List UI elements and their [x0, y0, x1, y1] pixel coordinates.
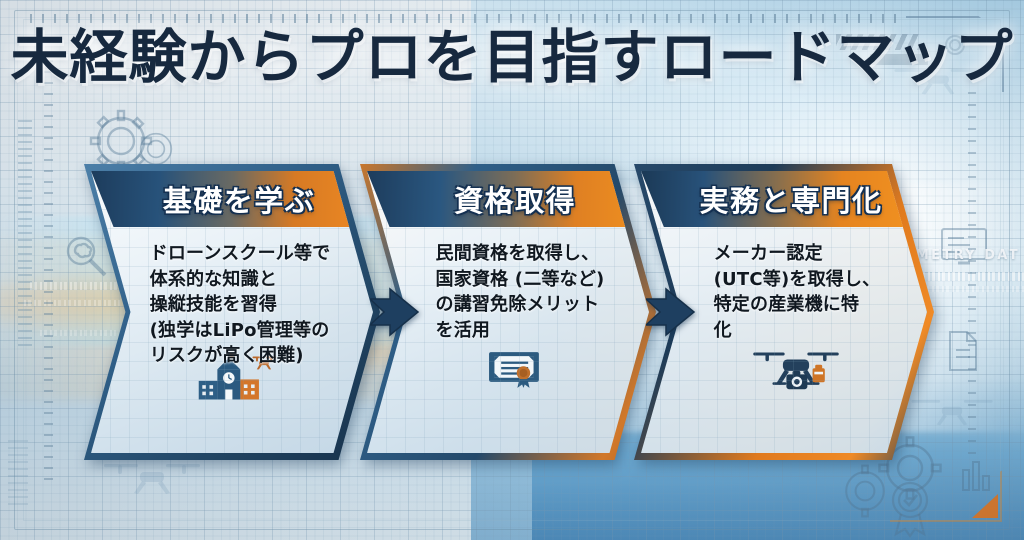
step-card-1[interactable]: 基礎を学ぶ ドローンスクール等で 体系的な知識と 操縦技能を習得 (独学はLiP…: [84, 164, 380, 460]
step-header-title-2: 資格取得: [367, 171, 649, 227]
arrow-step1-to-step2: [370, 286, 420, 338]
arrow-step2-to-step3: [646, 286, 696, 338]
step-header-band-2: 資格取得: [367, 171, 649, 227]
step-body-1: ドローンスクール等で 体系的な知識と 操縦技能を習得 (独学はLiPo管理等の …: [91, 227, 373, 453]
infographic-canvas: TELEMETRY DAT 未経験からプロを目指すロードマップ 基礎を学ぶ ドロ…: [0, 0, 1024, 540]
step-body-text-2: 民間資格を取得し、 国家資格 (二等など) の講習免除メリット を活用: [402, 241, 615, 343]
step-header-band-1: 基礎を学ぶ: [91, 171, 373, 227]
step-header-title-3: 実務と専門化: [641, 171, 927, 227]
step-body-text-1: ドローンスクール等で 体系的な知識と 操縦技能を習得 (独学はLiPo管理等の …: [124, 241, 341, 369]
step-body-2: 民間資格を取得し、 国家資格 (二等など) の講習免除メリット を活用: [367, 227, 649, 453]
roadmap-steps: 基礎を学ぶ ドローンスクール等で 体系的な知識と 操縦技能を習得 (独学はLiP…: [0, 164, 1024, 460]
step-body-3: メーカー認定 (UTC等)を取得し、 特定の産業機に特 化: [641, 227, 927, 453]
step-body-text-3: メーカー認定 (UTC等)を取得し、 特定の産業機に特 化: [680, 241, 889, 343]
step-card-face: 基礎を学ぶ ドローンスクール等で 体系的な知識と 操縦技能を習得 (独学はLiP…: [91, 171, 373, 453]
page-title: 未経験からプロを目指すロードマップ: [0, 28, 1024, 86]
step-header-title-1: 基礎を学ぶ: [91, 171, 373, 227]
step-header-band-3: 実務と専門化: [641, 171, 927, 227]
